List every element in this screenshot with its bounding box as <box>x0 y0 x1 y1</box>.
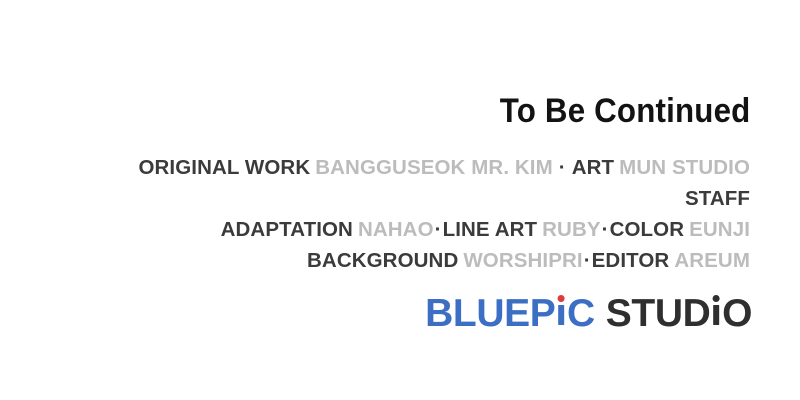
credit-separator: · <box>558 156 567 179</box>
credit-line-background: BACKGROUNDWORSHIPRI·EDITORAREUM <box>30 245 750 276</box>
credit-label-adaptation: ADAPTATION <box>221 218 353 241</box>
credit-label-background: BACKGROUND <box>307 249 458 272</box>
credits-page: To Be Continued ORIGINAL WORKBANGGUSEOK … <box>0 0 800 400</box>
logo-bluepic-i-dot <box>558 295 565 302</box>
credit-label-art: ART <box>572 156 614 179</box>
logo-studio: STUDO <box>606 292 752 336</box>
credit-value-color: EUNJI <box>689 218 750 241</box>
credit-label-staff: STAFF <box>685 187 750 210</box>
credit-label-editor: EDITOR <box>592 249 670 272</box>
logo-studio-i-dot <box>713 295 720 302</box>
credit-separator: · <box>434 218 443 241</box>
title-block: To Be Continued <box>478 94 750 128</box>
credit-label-line-art: LINE ART <box>443 218 538 241</box>
credit-label-color: COLOR <box>610 218 685 241</box>
credit-separator: · <box>601 218 610 241</box>
logo-studio-suffix: O <box>722 292 752 335</box>
credit-value-editor: AREUM <box>674 249 750 272</box>
credit-line-original-work: ORIGINAL WORKBANGGUSEOK MR. KIM·ARTMUN S… <box>30 152 750 183</box>
logo-studio-prefix: STUD <box>606 292 711 335</box>
credit-value-line-art: RUBY <box>542 218 601 241</box>
credit-separator: · <box>583 249 592 272</box>
logo-bluepic-suffix: C <box>567 292 595 335</box>
credit-value-art: MUN STUDIO <box>619 156 750 179</box>
credit-value-original-work: BANGGUSEOK MR. KIM <box>315 156 553 179</box>
credit-value-background: WORSHIPRI <box>463 249 582 272</box>
page-title: To Be Continued <box>499 94 750 128</box>
credits-list: ORIGINAL WORKBANGGUSEOK MR. KIM·ARTMUN S… <box>30 152 750 276</box>
credit-line-staff: STAFF <box>30 183 750 214</box>
logo-bluepic: BLUEPC <box>425 292 595 336</box>
credit-label-original-work: ORIGINAL WORK <box>138 156 310 179</box>
studio-logo: BLUEPCSTUDO <box>425 292 752 344</box>
logo-bluepic-prefix: BLUEP <box>425 292 555 335</box>
credit-value-adaptation: NAHAO <box>358 218 434 241</box>
credit-line-adaptation: ADAPTATIONNAHAO·LINE ARTRUBY·COLOREUNJI <box>30 214 750 245</box>
